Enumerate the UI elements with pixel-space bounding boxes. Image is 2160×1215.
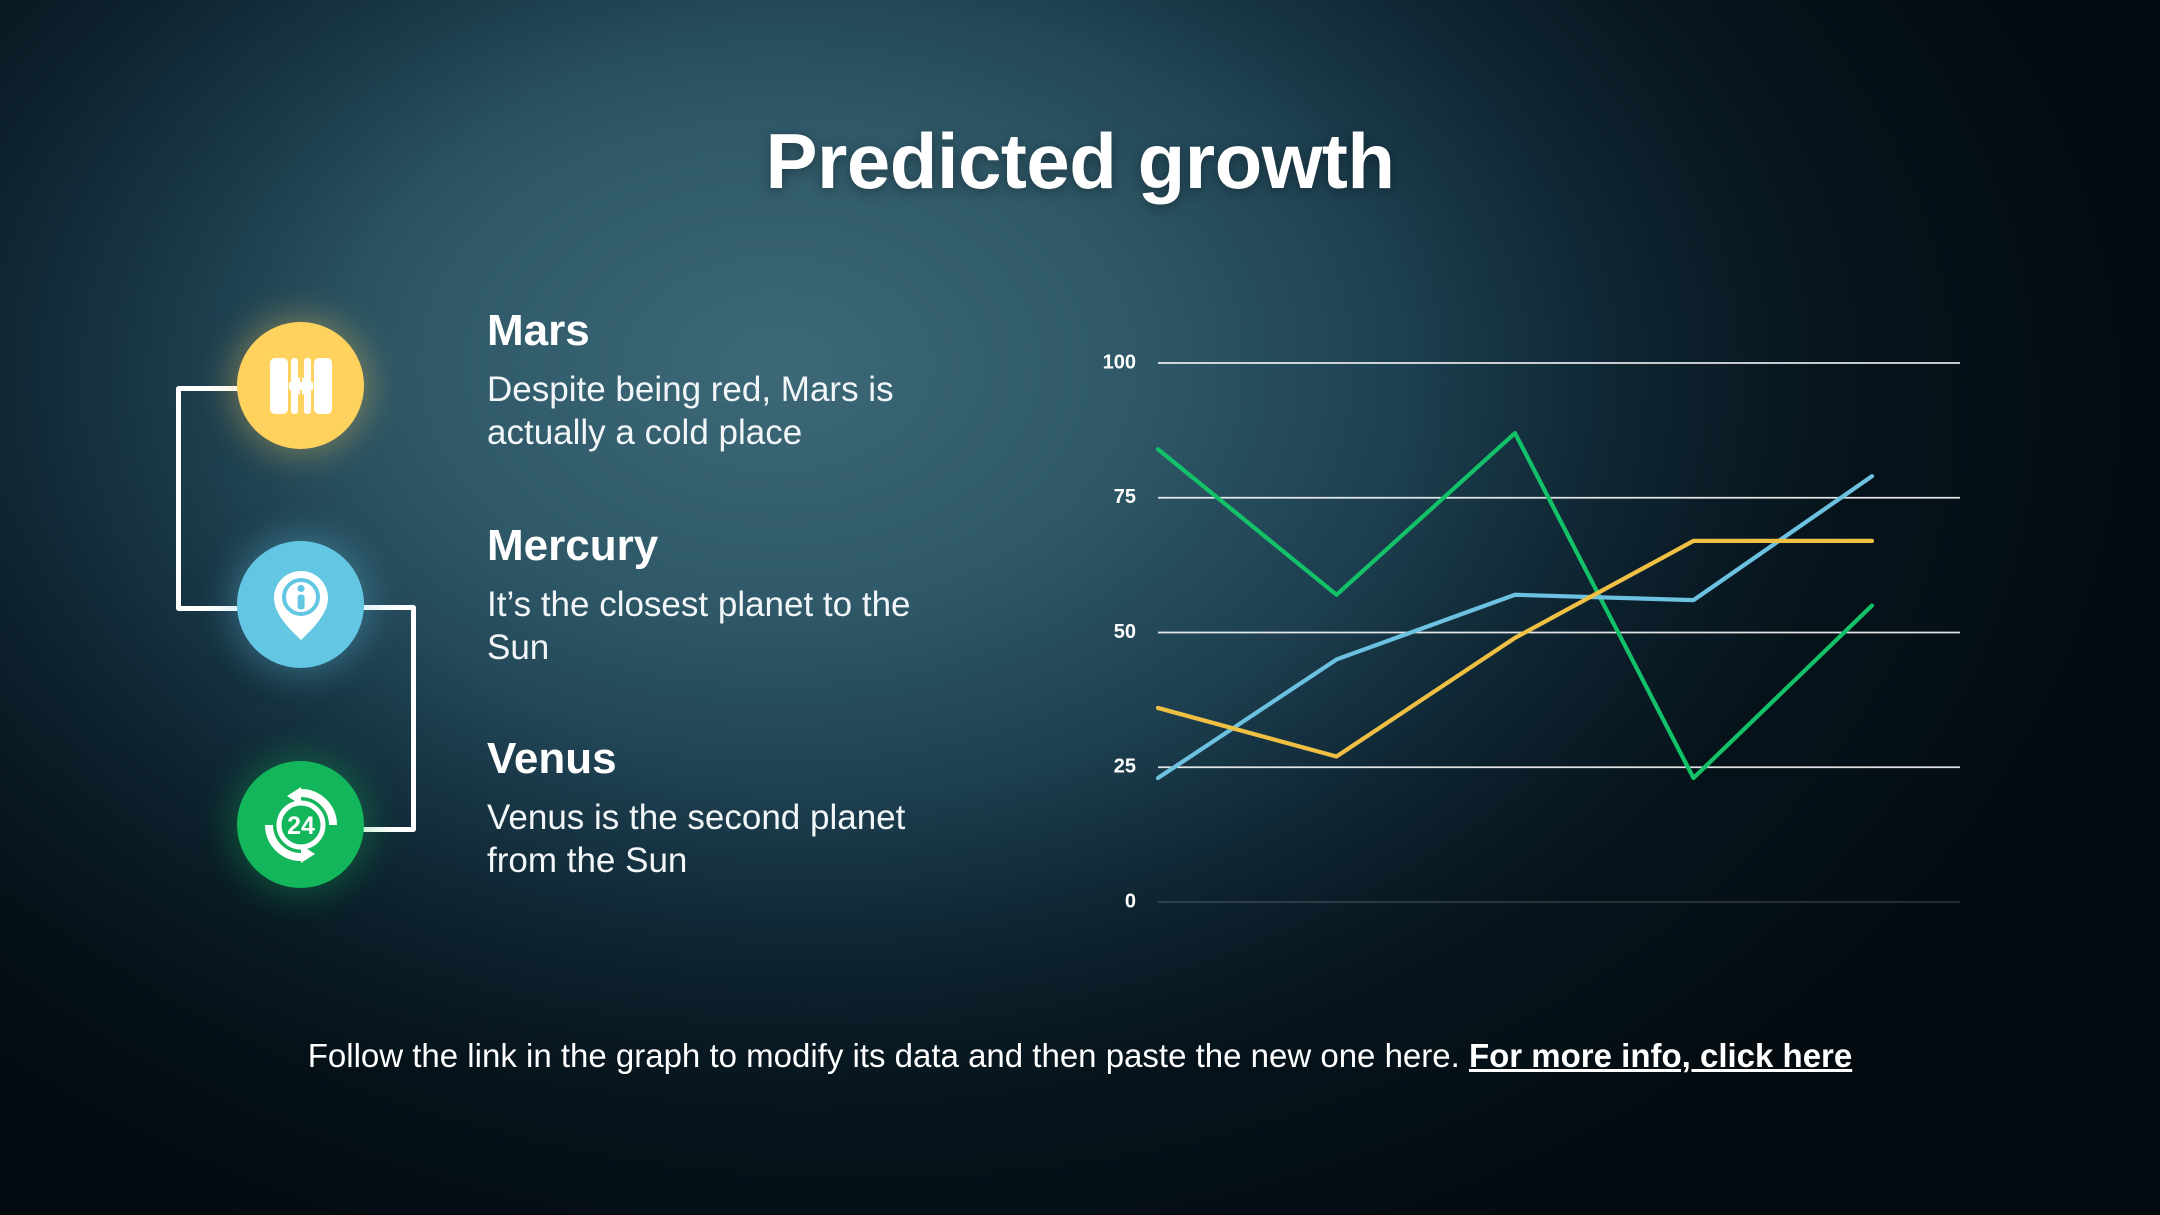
- footer-note: Follow the link in the graph to modify i…: [0, 1037, 2160, 1075]
- connector-bracket-top: [176, 386, 246, 611]
- slide-canvas: Predicted growth: [0, 0, 2160, 1215]
- chart-svg: 0255075100: [1010, 330, 2020, 930]
- heading-venus: Venus: [487, 735, 967, 783]
- footer-text: Follow the link in the graph to modify i…: [308, 1037, 1460, 1074]
- heading-mercury: Mercury: [487, 522, 967, 570]
- y-axis-tick-label: 50: [1114, 621, 1136, 643]
- icon-badge-venus[interactable]: 24: [237, 761, 364, 888]
- text-block-mars: Mars Despite being red, Mars is actually…: [487, 307, 967, 455]
- line-chart[interactable]: 0255075100: [1010, 330, 2020, 930]
- chart-y-axis-ticks: 0255075100: [1103, 351, 1136, 912]
- svg-text:24: 24: [287, 812, 315, 840]
- series-line: [1158, 433, 1872, 778]
- body-mercury: It’s the closest planet to the Sun: [487, 584, 967, 669]
- y-axis-tick-label: 75: [1114, 486, 1136, 508]
- footer-link[interactable]: For more info, click here: [1469, 1037, 1852, 1074]
- chart-gridlines: [1158, 363, 1960, 902]
- y-axis-tick-label: 25: [1114, 756, 1136, 778]
- 24-hours-rotate-icon: 24: [260, 784, 342, 866]
- heading-mars: Mars: [487, 307, 967, 355]
- width-arrows-icon: [261, 346, 341, 426]
- icon-badge-mars[interactable]: [237, 322, 364, 449]
- text-block-venus: Venus Venus is the second planet from th…: [487, 735, 967, 883]
- y-axis-tick-label: 0: [1125, 890, 1136, 912]
- icon-badge-mercury[interactable]: [237, 541, 364, 668]
- y-axis-tick-label: 100: [1103, 351, 1136, 373]
- body-mars: Despite being red, Mars is actually a co…: [487, 369, 967, 454]
- chart-series-lines: [1158, 433, 1872, 778]
- text-block-mercury: Mercury It’s the closest planet to the S…: [487, 522, 967, 670]
- body-venus: Venus is the second planet from the Sun: [487, 797, 967, 882]
- map-pin-info-icon: [262, 566, 340, 644]
- series-line: [1158, 476, 1872, 778]
- series-line: [1158, 541, 1872, 757]
